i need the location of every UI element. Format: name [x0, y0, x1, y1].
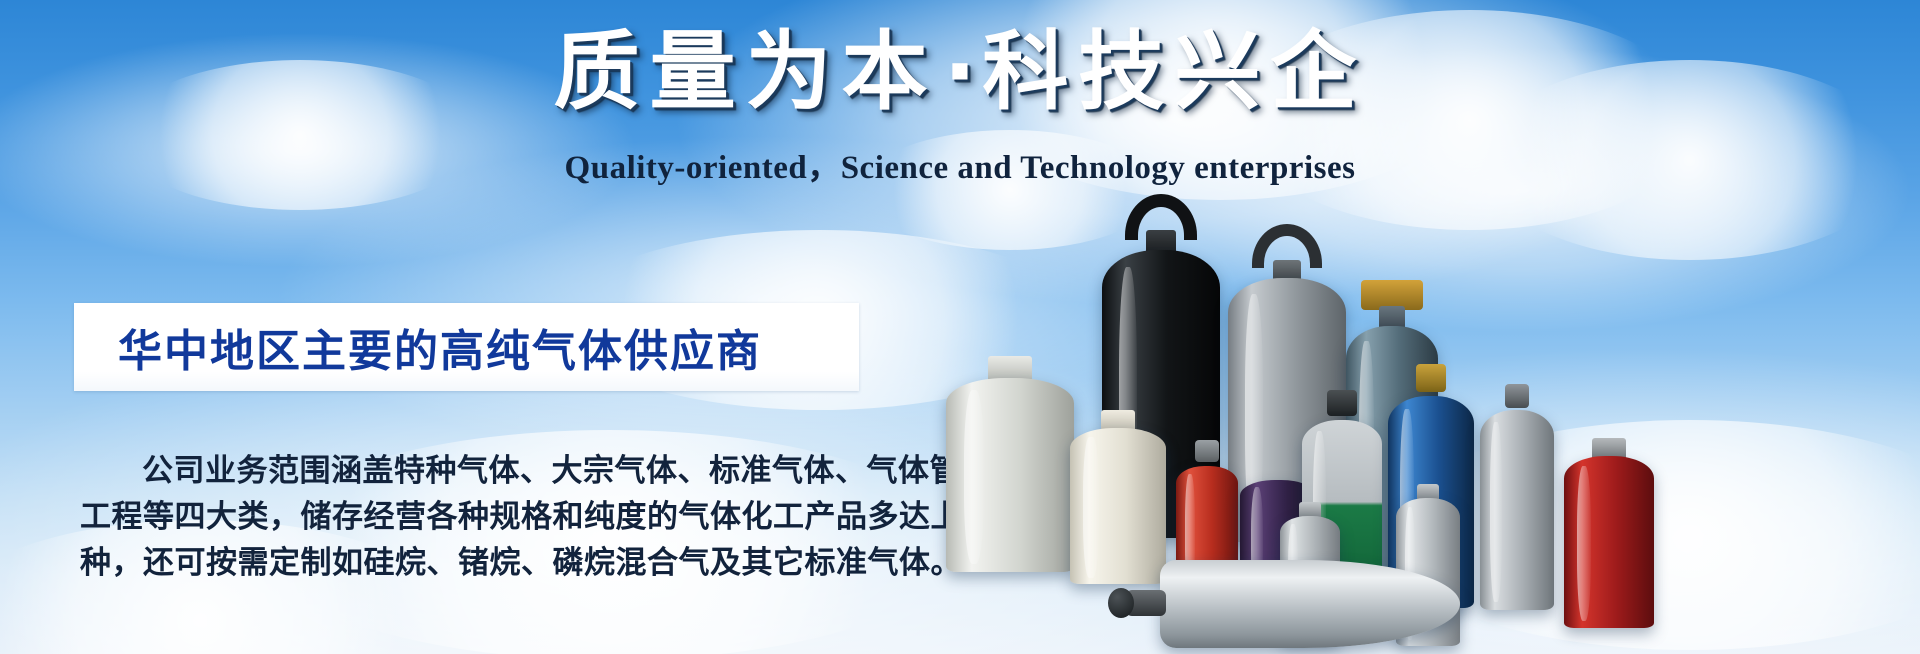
promo-banner: 质量为本·科技兴企 Quality-oriented，Science and T… [0, 0, 1920, 654]
headline-separator: · [938, 22, 983, 122]
cream-cylinder [1070, 424, 1166, 584]
cylinder-body [946, 378, 1074, 572]
highlight-band-text: 华中地区主要的高纯气体供应商 [74, 315, 762, 379]
cylinder-knob-icon [1108, 588, 1134, 618]
cylinder-body [1070, 428, 1166, 584]
cylinder-body [1480, 410, 1554, 610]
white-wide-cylinder [946, 372, 1074, 572]
cylinder-highlight [1577, 466, 1591, 621]
headline-left: 质量为本 [554, 22, 938, 122]
banner-paragraph: 公司业务范围涵盖特种气体、大宗气体、标准气体、气体管道 工程等四大类，储存经营各… [80, 448, 880, 586]
cylinder-highlight [1083, 437, 1098, 577]
cylinder-valve-icon [1416, 364, 1446, 392]
gas-cylinder-lineup [1160, 180, 1920, 654]
cylinder-highlight [1490, 422, 1502, 602]
paragraph-line: 工程等四大类，储存经营各种规格和纯度的气体化工产品多达上百 [80, 494, 880, 540]
paragraph-line: 公司业务范围涵盖特种气体、大宗气体、标准气体、气体管道 [80, 448, 880, 494]
headline-right: 科技兴企 [982, 22, 1366, 122]
cylinder-valve-icon [1195, 440, 1219, 462]
cylinder-valve-icon [1327, 390, 1357, 416]
aluminium-cylinder [1480, 410, 1554, 610]
cylinder-body [1564, 456, 1654, 628]
highlight-band: 华中地区主要的高纯气体供应商 [74, 303, 859, 391]
reclining-cylinder [1160, 560, 1460, 648]
dark-red-cylinder [1564, 452, 1654, 628]
cylinder-highlight [964, 390, 984, 565]
cylinder-valve-icon [1505, 384, 1529, 408]
paragraph-line: 种，还可按需定制如硅烷、锗烷、磷烷混合气及其它标准气体。 [80, 540, 880, 586]
banner-headline: 质量为本·科技兴企 [0, 26, 1920, 119]
